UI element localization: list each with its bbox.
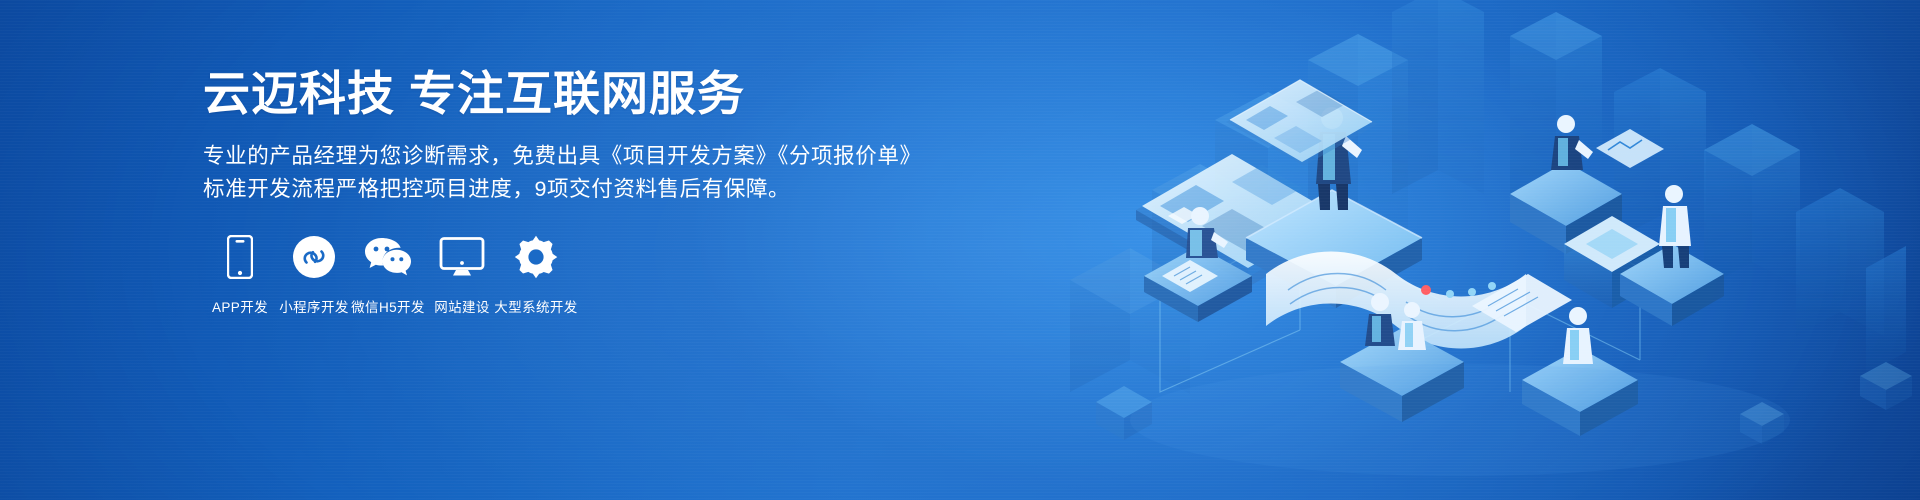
monitor-icon (439, 232, 485, 282)
mobile-phone-icon (227, 232, 253, 282)
service-label: APP开发 (212, 296, 268, 316)
service-list: APP开发 小程序开发 (203, 232, 573, 316)
service-label: 小程序开发 (279, 296, 349, 316)
service-label: 大型系统开发 (494, 296, 577, 316)
page-title: 云迈科技 专注互联网服务 (203, 66, 963, 121)
subtitle-line-1: 专业的产品经理为您诊断需求，免费出具《项目开发方案》《分项报价单》 (203, 140, 963, 173)
service-item-website[interactable]: 网站建设 (425, 232, 499, 316)
service-item-large-system[interactable]: 大型系统开发 (499, 232, 573, 316)
hero-subtitle: 专业的产品经理为您诊断需求，免费出具《项目开发方案》《分项报价单》 标准开发流程… (203, 140, 963, 206)
isometric-tech-team-illustration (1040, 0, 1920, 500)
service-item-miniprogram[interactable]: 小程序开发 (277, 232, 351, 316)
service-label: 网站建设 (434, 296, 490, 316)
hero-copy: 云迈科技 专注互联网服务 专业的产品经理为您诊断需求，免费出具《项目开发方案》《… (203, 66, 963, 206)
subtitle-line-2: 标准开发流程严格把控项目进度，9项交付资料售后有保障。 (203, 173, 963, 206)
wechat-icon (363, 232, 413, 282)
mini-program-icon (292, 232, 336, 282)
service-item-wechat-h5[interactable]: 微信H5开发 (351, 232, 425, 316)
service-label: 微信H5开发 (351, 296, 425, 316)
gear-icon (514, 232, 558, 282)
hero-banner: 云迈科技 专注互联网服务 专业的产品经理为您诊断需求，免费出具《项目开发方案》《… (0, 0, 1920, 500)
service-item-app[interactable]: APP开发 (203, 232, 277, 316)
